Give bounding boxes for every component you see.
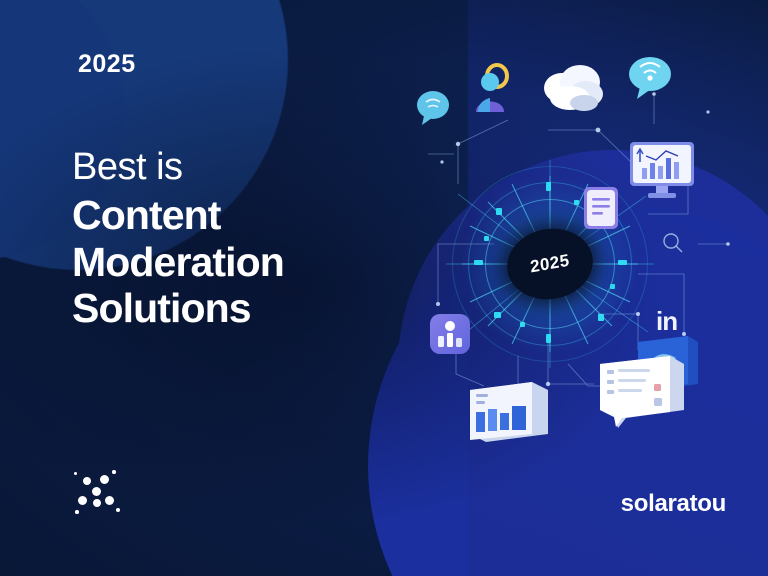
search-node-icon <box>660 230 686 256</box>
dot-cross-logo-icon <box>72 466 128 522</box>
cloud-icon <box>536 58 610 114</box>
chat-bubble-icon <box>414 88 452 126</box>
chat-card-icon <box>596 354 688 432</box>
user-avatar-icon <box>470 60 516 116</box>
bar-chart-icon <box>428 312 472 356</box>
headline-main: Content Moderation Solutions <box>72 192 412 332</box>
dashboard-card-icon <box>466 378 552 444</box>
message-signal-icon <box>626 54 674 100</box>
hero-illustration: 2025 <box>398 34 766 474</box>
headline-kicker: Best is <box>72 148 412 188</box>
poster-canvas: 2025 Best is Content Moderation Solution… <box>0 0 768 576</box>
document-icon <box>580 184 622 234</box>
brand-wordmark: solaratou <box>621 490 726 518</box>
monitor-chart-icon <box>626 138 702 204</box>
linkedin-icon: in <box>656 306 677 337</box>
page-title: Best is Content Moderation Solutions <box>72 148 412 332</box>
year-badge: 2025 <box>78 50 136 79</box>
